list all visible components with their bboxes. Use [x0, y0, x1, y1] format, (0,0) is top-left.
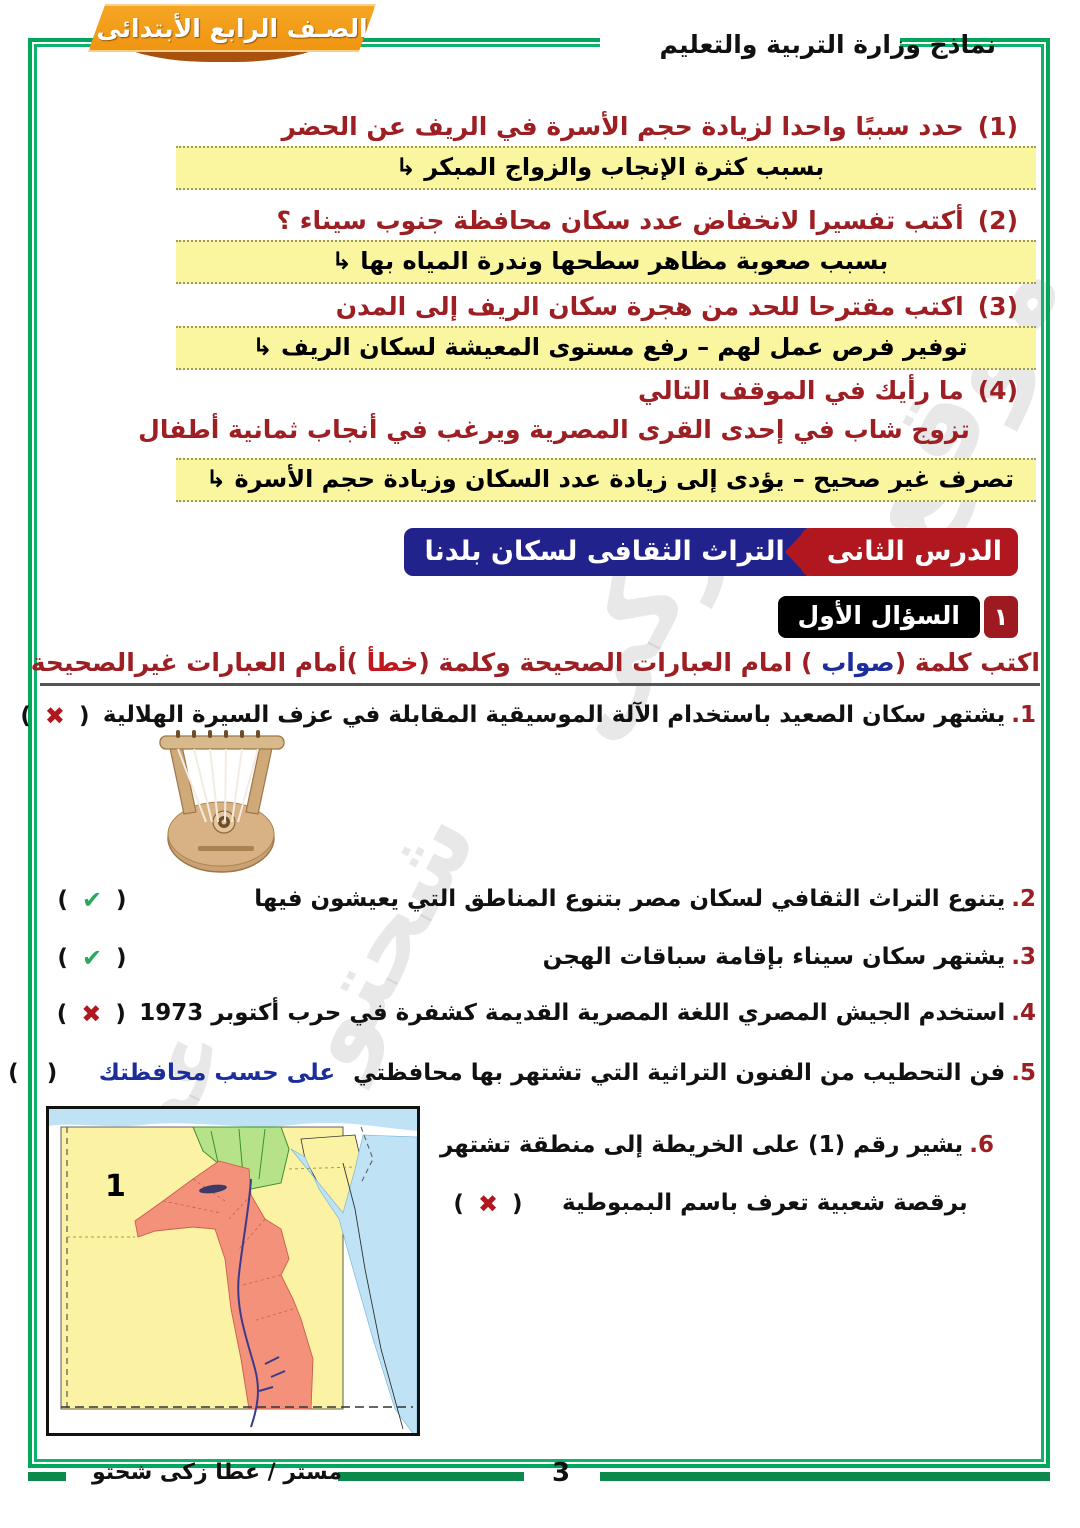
check-icon: ✔ [82, 944, 102, 972]
answer-box: بسبب صعوبة مظاهر سطحها وندرة المياه بها … [176, 240, 1036, 284]
statement-number: 1. [1011, 702, 1036, 728]
paren-close: ) [47, 1060, 58, 1086]
instruction-part-3: )أمام العبارات غيرالصحيحة [31, 648, 367, 677]
question-text: ما رأيك في الموقف التالي [638, 376, 964, 405]
egypt-regions-map: 1 [46, 1106, 420, 1436]
statement-text: يشتهر سكان سيناء بإقامة سباقات الهجن [543, 944, 1006, 970]
paren-open: ( [57, 945, 68, 971]
question-number: (4) [978, 376, 1018, 405]
answer-text: بسبب كثرة الإنجاب والزواج المبكر [424, 153, 824, 181]
short-question-1: (1)حدد سببًا واحدا لزيادة حجم الأسرة في … [34, 112, 1044, 194]
statement-row-continued: برقصة شعبية تعرف باسم البمبوطية ( ✖ ) [440, 1190, 1036, 1218]
statement-text-line2: برقصة شعبية تعرف باسم البمبوطية [562, 1190, 968, 1216]
statement-note: على حسب محافظتك [99, 1060, 335, 1086]
ministry-title: نماذج وزارة التربية والتعليم [660, 30, 996, 59]
answer-parentheses[interactable]: ( ✖ ) [440, 1190, 536, 1218]
answer-parentheses[interactable]: ( ) [0, 1060, 81, 1086]
grade-badge-label: الصـف الرابع الأبتدائى [96, 14, 367, 43]
statement-row: 6. يشير رقم (1) على الخريطة إلى منطقة تش… [440, 1132, 1036, 1158]
instruction-part-1: اكتب كلمة ( [895, 648, 1040, 677]
answer-parentheses[interactable]: ( ✔ ) [44, 886, 140, 914]
lesson-tag: الدرس الثانى [801, 528, 1018, 576]
lesson-banner: الدرس الثانى التراث الثقافى لسكان بلدنا [404, 528, 1018, 576]
statement-text: يشتهر سكان الصعيد باستخدام الآلة الموسيق… [103, 702, 1005, 728]
paren-open: ( [453, 1191, 464, 1217]
paren-open: ( [20, 703, 31, 729]
cross-icon: ✖ [478, 1190, 498, 1218]
answer-parentheses[interactable]: ( ✖ ) [43, 1000, 139, 1028]
paren-open: ( [57, 887, 68, 913]
statement-number: 2. [1011, 886, 1036, 912]
statement-row: 5. فن التحطيب من الفنون التراثية التي تش… [44, 1060, 1036, 1086]
question-one-number: ١ [984, 596, 1018, 638]
statement-text: يتنوع التراث الثقافي لسكان مصر بتنوع الم… [254, 886, 1005, 912]
short-question-3: (3)اكتب مقترحا للحد من هجرة سكان الريف إ… [34, 292, 1044, 374]
question-text-row: (3)اكتب مقترحا للحد من هجرة سكان الريف إ… [34, 292, 1044, 321]
answer-parentheses[interactable]: ( ✔ ) [44, 944, 140, 972]
question-scenario-text: تزوج شاب في إحدى القرى المصرية ويرغب في … [34, 415, 1044, 444]
question-number: (2) [978, 206, 1018, 235]
cross-icon: ✖ [45, 702, 65, 730]
answer-arrow-icon: ↳ [396, 153, 416, 181]
page-number: 3 [552, 1458, 570, 1488]
grade-badge: الصـف الرابع الأبتدائى [88, 4, 388, 66]
short-question-4: (4)ما رأيك في الموقف التالي تزوج شاب في … [34, 376, 1044, 506]
question-text: حدد سببًا واحدا لزيادة حجم الأسرة في الر… [281, 112, 963, 141]
question-one-badge: ١ السؤال الأول [778, 596, 1018, 638]
statement-number: 3. [1011, 944, 1036, 970]
answer-text: تصرف غير صحيح – يؤدى إلى زيادة عدد السكا… [235, 465, 1014, 493]
answer-text: توفير فرص عمل لهم – رفع مستوى المعيشة لس… [281, 333, 968, 361]
paren-close: ) [79, 703, 90, 729]
instruction-correct-word: صواب [821, 648, 895, 677]
answer-parentheses[interactable]: ( ✖ ) [7, 702, 103, 730]
answer-arrow-icon: ↳ [332, 247, 352, 275]
answer-arrow-icon: ↳ [206, 465, 226, 493]
footer-rule-right [600, 1472, 1050, 1481]
statement-text: استخدم الجيش المصري اللغة المصرية القديم… [139, 1000, 1005, 1026]
question-text-row: (1)حدد سببًا واحدا لزيادة حجم الأسرة في … [34, 112, 1044, 141]
short-question-2: (2)أكتب تفسيرا لانخفاض عدد سكان محافظة ج… [34, 206, 1044, 288]
instruction-line: اكتب كلمة (صواب ) امام العبارات الصحيحة … [40, 648, 1040, 686]
footer-rule-left [28, 1472, 66, 1481]
answer-text: بسبب صعوبة مظاهر سطحها وندرة المياه بها [360, 247, 888, 275]
answer-box: توفير فرص عمل لهم – رفع مستوى المعيشة لس… [176, 326, 1036, 370]
statement-row: 1. يشتهر سكان الصعيد باستخدام الآلة المو… [44, 702, 1036, 730]
statement-number: 5. [1011, 1060, 1036, 1086]
map-region-label: 1 [105, 1169, 126, 1204]
question-text-row: (4)ما رأيك في الموقف التالي [34, 376, 1044, 405]
simsimiyya-lyre-icon [126, 722, 316, 874]
instruction-wrong-word: خطأ [367, 648, 419, 677]
statement-number: 4. [1011, 1000, 1036, 1026]
answer-box: تصرف غير صحيح – يؤدى إلى زيادة عدد السكا… [176, 458, 1036, 502]
instruction-part-2: ) امام العبارات الصحيحة وكلمة ( [418, 648, 821, 677]
answer-box: بسبب كثرة الإنجاب والزواج المبكر ↳ [176, 146, 1036, 190]
page-header: نماذج وزارة التربية والتعليم الصـف الراب… [0, 0, 1080, 86]
statement-row: 2. يتنوع التراث الثقافي لسكان مصر بتنوع … [44, 886, 1036, 914]
question-number: (3) [978, 292, 1018, 321]
statement-row: 4. استخدم الجيش المصري اللغة المصرية الق… [44, 1000, 1036, 1028]
answer-arrow-icon: ↳ [252, 333, 272, 361]
paren-close: ) [116, 945, 127, 971]
question-number: (1) [978, 112, 1018, 141]
question-text-row: (2)أكتب تفسيرا لانخفاض عدد سكان محافظة ج… [34, 206, 1044, 235]
statement-number: 6. [969, 1132, 994, 1158]
teacher-name: مستر / عطا زكى شحتو [92, 1460, 342, 1485]
worksheet-page: موقع زكى شحتو عطا نماذج وزارة التربية وا… [0, 0, 1080, 1528]
question-text: اكتب مقترحا للحد من هجرة سكان الريف إلى … [336, 292, 964, 321]
page-footer: مستر / عطا زكى شحتو 3 [0, 1452, 1080, 1512]
paren-open: ( [8, 1060, 19, 1086]
paren-open: ( [57, 1001, 68, 1027]
footer-rule-mid [338, 1472, 524, 1481]
question-text: أكتب تفسيرا لانخفاض عدد سكان محافظة جنوب… [276, 206, 963, 235]
paren-close: ) [115, 1001, 126, 1027]
question-one-label: السؤال الأول [778, 596, 980, 638]
lesson-title: التراث الثقافى لسكان بلدنا [404, 528, 814, 576]
grade-badge-ribbon: الصـف الرابع الأبتدائى [88, 4, 376, 52]
statement-row: 3. يشتهر سكان سيناء بإقامة سباقات الهجن … [44, 944, 1036, 972]
statement-text: فن التحطيب من الفنون التراثية التي تشتهر… [353, 1060, 1005, 1086]
paren-close: ) [116, 887, 127, 913]
paren-close: ) [512, 1191, 523, 1217]
check-icon: ✔ [82, 886, 102, 914]
statement-text: يشير رقم (1) على الخريطة إلى منطقة تشتهر [440, 1132, 963, 1158]
cross-icon: ✖ [81, 1000, 101, 1028]
